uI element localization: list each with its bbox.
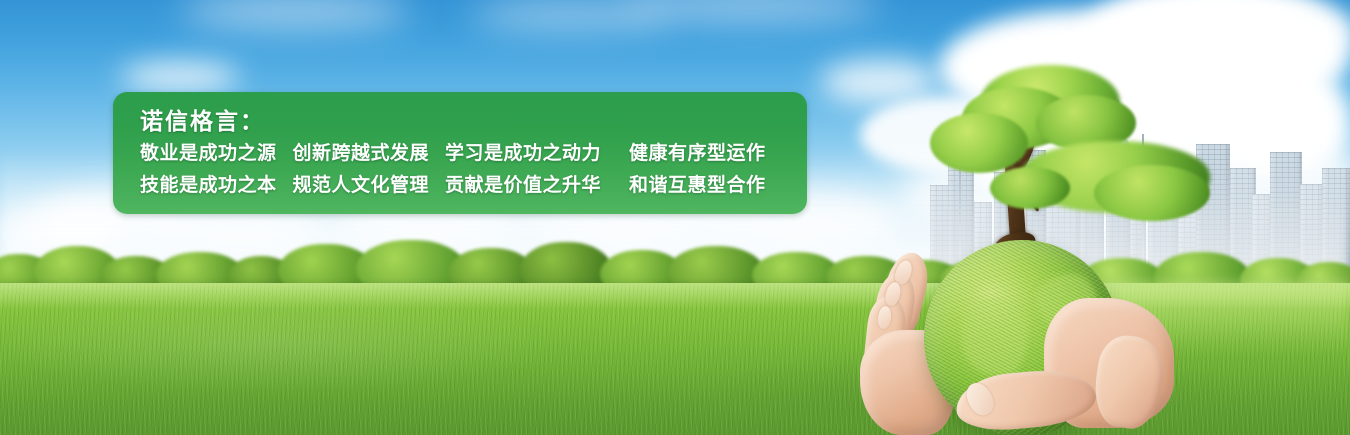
motto-segment: 技能是成功之本 xyxy=(140,174,277,196)
motto-segment: 规范人文化管理 xyxy=(293,174,430,196)
motto-panel: 诺信格言： 敬业是成功之源创新跨越式发展学习是成功之动力健康有序型运作 技能是成… xyxy=(113,92,807,214)
motto-segment: 学习是成功之动力 xyxy=(445,142,601,164)
globe-continent xyxy=(962,298,1028,376)
motto-segment: 贡献是价值之升华 xyxy=(445,174,601,196)
cloud-puff xyxy=(1250,10,1350,54)
tree-leaf-cluster xyxy=(1094,165,1210,221)
motto-line-2: 技能是成功之本规范人文化管理贡献是价值之升华和谐互惠型合作 xyxy=(140,169,807,201)
motto-segment: 和谐互惠型合作 xyxy=(629,174,766,196)
tree-leaf-cluster xyxy=(990,167,1070,209)
hands-holding-globe xyxy=(860,240,1180,435)
motto-segment: 敬业是成功之源 xyxy=(140,142,277,164)
eco-banner: 诺信格言： 敬业是成功之源创新跨越式发展学习是成功之动力健康有序型运作 技能是成… xyxy=(0,0,1350,435)
cloud-puff xyxy=(120,62,240,92)
motto-title: 诺信格言： xyxy=(140,107,807,137)
motto-segment: 健康有序型运作 xyxy=(629,142,766,164)
motto-segment: 创新跨越式发展 xyxy=(293,142,430,164)
tree-leaf-cluster xyxy=(930,113,1028,173)
motto-line-1: 敬业是成功之源创新跨越式发展学习是成功之动力健康有序型运作 xyxy=(140,137,807,169)
